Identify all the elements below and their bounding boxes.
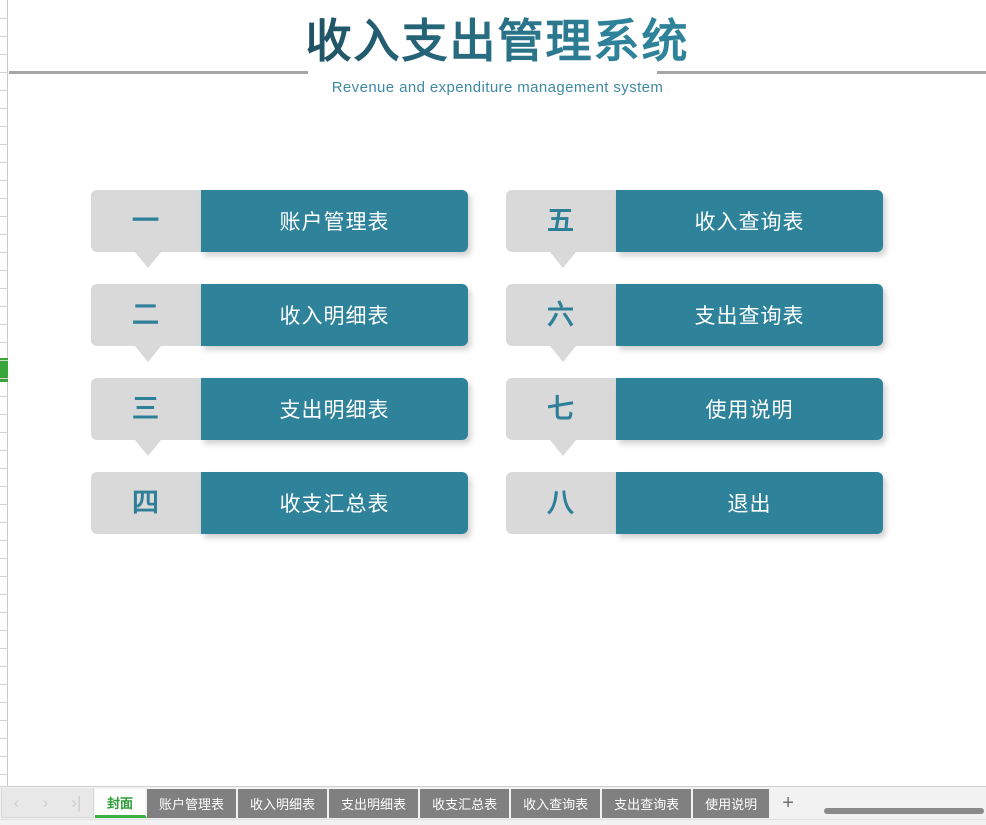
menu-numeral: 一 <box>132 208 160 235</box>
page-subtitle: Revenue and expenditure management syste… <box>9 79 986 96</box>
sheet-nav-controls: ‹ › ›| <box>1 788 94 818</box>
menu-numeral: 五 <box>547 208 575 235</box>
row-gridline <box>0 612 8 613</box>
menu-button-expense-detail[interactable]: 支出明细表 <box>201 378 468 440</box>
row-gridline <box>0 432 8 433</box>
menu-numeral: 二 <box>132 302 160 329</box>
first-sheet-icon[interactable]: ‹ <box>14 794 20 811</box>
row-gridline <box>0 558 8 559</box>
sheet-tab-income-detail[interactable]: 收入明细表 <box>238 789 329 818</box>
last-sheet-icon[interactable]: ›| <box>71 794 81 811</box>
row-gridline <box>0 702 8 703</box>
menu-button-income-query[interactable]: 收入查询表 <box>616 190 883 252</box>
menu-numeral-plate: 五 <box>506 190 616 252</box>
menu-item[interactable]: 四 收支汇总表 <box>91 472 468 534</box>
add-sheet-icon[interactable]: + <box>771 789 805 818</box>
sheet-tab-account-management[interactable]: 账户管理表 <box>147 789 238 818</box>
row-gridline <box>0 378 8 379</box>
row-gridline <box>0 288 8 289</box>
page-title: 收入支出管理系统 <box>9 14 986 68</box>
row-gridline <box>0 630 8 631</box>
row-gridline <box>0 180 8 181</box>
menu-numeral-plate: 八 <box>506 472 616 534</box>
row-gridline <box>0 198 8 199</box>
row-gridline <box>0 90 8 91</box>
menu-numeral: 八 <box>547 490 575 517</box>
menu-item[interactable]: 三 支出明细表 <box>91 378 468 440</box>
sheet-tab-expense-query[interactable]: 支出查询表 <box>602 789 693 818</box>
prev-sheet-icon[interactable]: › <box>42 794 48 811</box>
row-gridline <box>0 738 8 739</box>
menu-numeral: 七 <box>547 396 575 423</box>
menu-item[interactable]: 六 支出查询表 <box>506 284 883 346</box>
menu-item[interactable]: 五 收入查询表 <box>506 190 883 252</box>
title-rule-left <box>9 71 308 74</box>
sheet-tab-cover[interactable]: 封面 <box>95 789 147 818</box>
sheet-tab-instructions[interactable]: 使用说明 <box>693 789 771 818</box>
menu-item[interactable]: 一 账户管理表 <box>91 190 468 252</box>
sheet-tab-summary[interactable]: 收支汇总表 <box>420 789 511 818</box>
horizontal-scrollbar[interactable] <box>824 808 984 814</box>
menu-numeral: 四 <box>132 490 160 517</box>
menu-item[interactable]: 二 收入明细表 <box>91 284 468 346</box>
menu-numeral-plate: 四 <box>91 472 201 534</box>
sheet-tab-expense-detail[interactable]: 支出明细表 <box>329 789 420 818</box>
row-gridline <box>0 486 8 487</box>
row-gridline <box>0 648 8 649</box>
row-gridline <box>0 216 8 217</box>
status-bar <box>0 819 986 825</box>
menu-button-summary[interactable]: 收支汇总表 <box>201 472 468 534</box>
menu-numeral-plate: 三 <box>91 378 201 440</box>
row-gridline <box>0 18 8 19</box>
row-gridline <box>0 342 8 343</box>
menu-pointer-icon <box>135 346 161 362</box>
sheet-tab-income-query[interactable]: 收入查询表 <box>511 789 602 818</box>
menu-item[interactable]: 七 使用说明 <box>506 378 883 440</box>
row-gridline <box>0 594 8 595</box>
worksheet-canvas: 收入支出管理系统 Revenue and expenditure managem… <box>9 0 986 786</box>
row-gridline <box>0 234 8 235</box>
row-gridline <box>0 522 8 523</box>
menu-numeral: 三 <box>132 396 160 423</box>
row-gridline <box>0 360 8 361</box>
menu-button-account-management[interactable]: 账户管理表 <box>201 190 468 252</box>
menu-column-right: 五 收入查询表 六 支出查询表 七 使用 <box>506 190 883 534</box>
row-gridline <box>0 36 8 37</box>
menu-button-expense-query[interactable]: 支出查询表 <box>616 284 883 346</box>
row-gridline <box>0 162 8 163</box>
title-block: 收入支出管理系统 Revenue and expenditure managem… <box>9 0 986 110</box>
row-gridline <box>0 324 8 325</box>
row-gridline <box>0 414 8 415</box>
row-gridline <box>0 774 8 775</box>
row-gridline <box>0 126 8 127</box>
menu-button-instructions[interactable]: 使用说明 <box>616 378 883 440</box>
menu-pointer-icon <box>135 440 161 456</box>
row-gridline <box>0 252 8 253</box>
row-gridline <box>0 540 8 541</box>
row-header-gutter <box>0 0 8 786</box>
menu-numeral-plate: 七 <box>506 378 616 440</box>
row-gridline <box>0 756 8 757</box>
menu-item[interactable]: 八 退出 <box>506 472 883 534</box>
menu-numeral-plate: 六 <box>506 284 616 346</box>
menu-pointer-icon <box>135 252 161 268</box>
row-gridline <box>0 270 8 271</box>
menu-pointer-icon <box>550 440 576 456</box>
menu-numeral-plate: 二 <box>91 284 201 346</box>
row-gridline <box>0 666 8 667</box>
title-rule-right <box>657 71 986 74</box>
workbook-window: 收入支出管理系统 Revenue and expenditure managem… <box>0 0 986 825</box>
menu-button-income-detail[interactable]: 收入明细表 <box>201 284 468 346</box>
menu-button-exit[interactable]: 退出 <box>616 472 883 534</box>
row-gridline <box>0 306 8 307</box>
row-gridline <box>0 576 8 577</box>
menu-pointer-icon <box>550 346 576 362</box>
row-gridline <box>0 504 8 505</box>
row-gridline <box>0 450 8 451</box>
row-gridline <box>0 108 8 109</box>
row-gridline <box>0 144 8 145</box>
row-gridline <box>0 396 8 397</box>
menu-numeral: 六 <box>547 302 575 329</box>
row-gridline <box>0 54 8 55</box>
menu-column-left: 一 账户管理表 二 收入明细表 三 支出 <box>91 190 468 534</box>
row-gridline <box>0 684 8 685</box>
sheet-tabs: 封面 账户管理表 收入明细表 支出明细表 收支汇总表 收入查询表 支出查询表 使… <box>95 789 805 818</box>
row-gridline <box>0 468 8 469</box>
menu-numeral-plate: 一 <box>91 190 201 252</box>
row-gridline <box>0 72 8 73</box>
menu-pointer-icon <box>550 252 576 268</box>
row-gridline <box>0 720 8 721</box>
